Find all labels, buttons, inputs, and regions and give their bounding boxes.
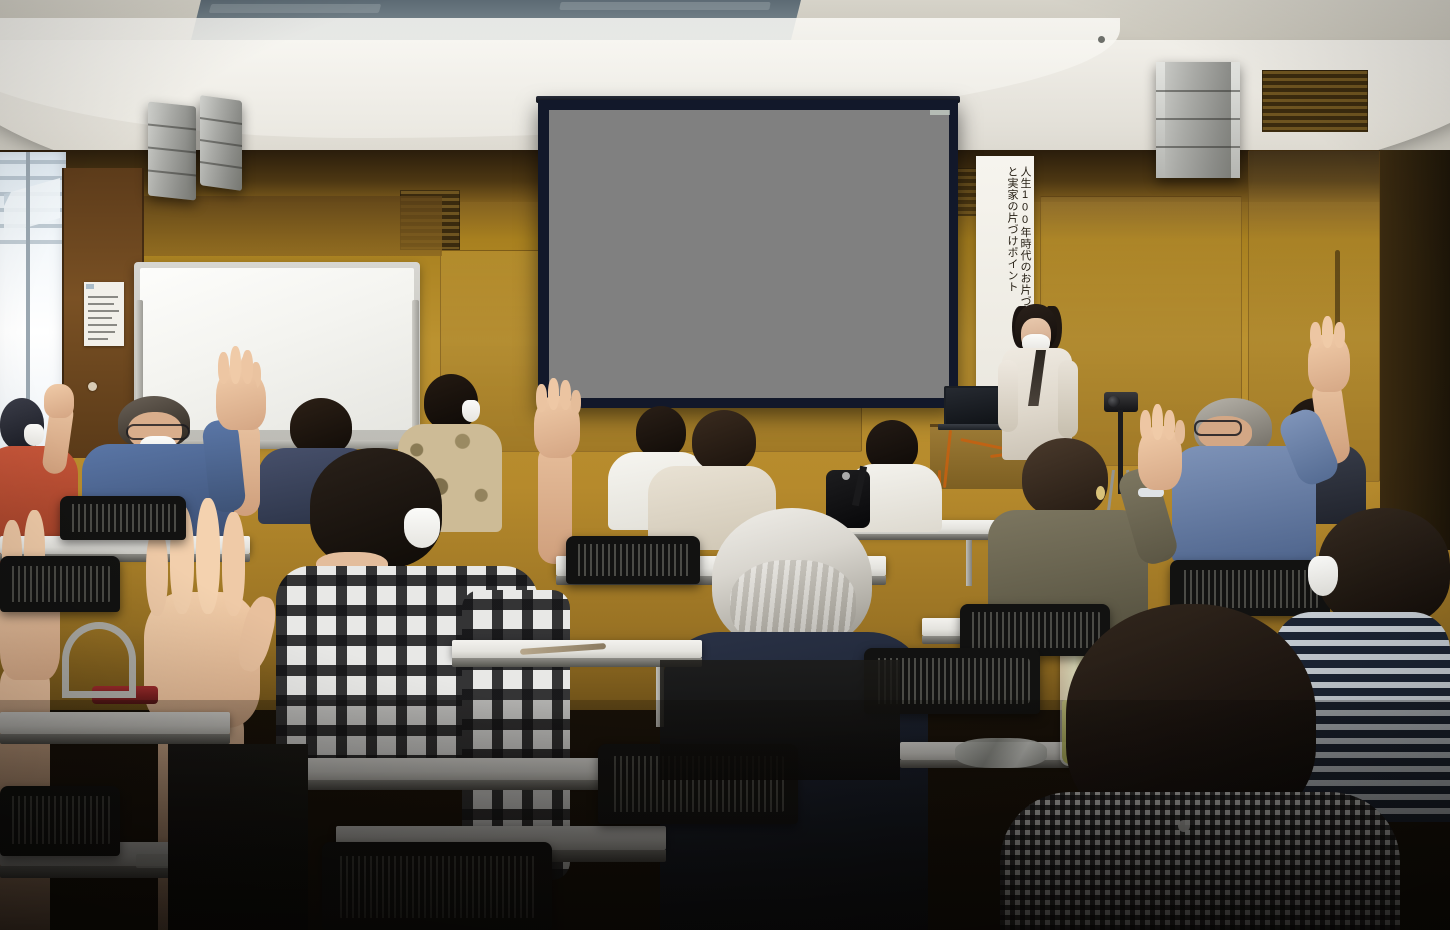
- notice-text-line: [88, 331, 115, 333]
- wall-louver-vent-right: [1262, 70, 1368, 132]
- chair-back-center[interactable]: [566, 536, 700, 584]
- chair-handle-ring: [62, 622, 136, 698]
- notice-tape: [86, 284, 94, 289]
- desk-row2-left-edge: [288, 780, 618, 790]
- person-orange-mask: [24, 424, 44, 446]
- notice-text-line: [88, 303, 114, 305]
- finger: [1175, 420, 1185, 444]
- projection-screen-surface: [549, 110, 949, 398]
- floor-shadow-left: [168, 744, 308, 930]
- bag-charm: [842, 472, 850, 480]
- eyeglasses-right: [1194, 420, 1242, 436]
- chair-left-2[interactable]: [0, 556, 120, 612]
- notice-text-line: [88, 338, 108, 340]
- finger: [1152, 404, 1163, 440]
- person-gingham-torso: [1000, 792, 1400, 930]
- ceiling-speaker-left-inner: [200, 95, 242, 191]
- ceiling-slot-left: [209, 4, 382, 13]
- lecture-hall-photo: 人生100年時代のお片づけ 失敗しない！ 自宅と実家の片づけポイント 浅部 敬子: [0, 0, 1450, 930]
- person-beige-head: [692, 410, 756, 472]
- ceiling-speaker-right: [1156, 62, 1240, 178]
- foil-wrapper: [955, 738, 1047, 768]
- person-plaid-mask: [404, 508, 440, 548]
- chair-back-left[interactable]: [60, 496, 186, 540]
- wall-right-dark-edge: [1380, 150, 1450, 550]
- finger: [571, 390, 581, 414]
- desk-label: [136, 854, 170, 868]
- finger: [548, 378, 559, 410]
- finger: [218, 352, 229, 384]
- desk-row2-left: [288, 758, 618, 780]
- ceiling-speaker-left: [148, 101, 196, 200]
- finger: [560, 380, 571, 410]
- earring: [1096, 486, 1105, 500]
- person-olive-head: [1022, 438, 1108, 518]
- chair-foreground-left[interactable]: [322, 842, 552, 930]
- finger-index: [222, 512, 245, 616]
- finger-pinky: [146, 528, 168, 616]
- notice-text-line: [88, 324, 117, 326]
- notice-text-line: [88, 296, 118, 298]
- ceiling-fixture-dot: [1098, 36, 1105, 43]
- ceiling-slot-right: [559, 2, 770, 10]
- window-blind-slat: [0, 240, 66, 244]
- finger: [1164, 410, 1175, 440]
- finger: [1310, 322, 1321, 348]
- desk-row2-farleft-edge: [0, 734, 230, 744]
- raised-hand-orange: [44, 384, 74, 418]
- screen-glint: [930, 110, 950, 115]
- notice-text-line: [88, 317, 112, 319]
- finger: [536, 384, 547, 412]
- finger: [1334, 322, 1345, 348]
- person-stripe-mask: [1308, 556, 1338, 596]
- person-white-tank-head: [636, 406, 686, 458]
- desk-leg: [966, 540, 972, 586]
- door-knob[interactable]: [88, 382, 97, 391]
- floor-shadow-center: [660, 660, 900, 780]
- finger-middle: [196, 498, 220, 614]
- chair-far-left-front[interactable]: [0, 786, 120, 856]
- camera-lens: [1108, 396, 1120, 407]
- finger: [242, 350, 253, 384]
- notice-text-line: [88, 310, 119, 312]
- window-blind-slat: [0, 160, 66, 164]
- person-floral-mask: [462, 400, 480, 422]
- presenter-arm-right: [1058, 360, 1078, 438]
- wall-notice-paper: [84, 282, 124, 346]
- presenter-arm-left: [998, 360, 1018, 432]
- finger: [230, 346, 241, 384]
- finger: [1322, 316, 1333, 348]
- collar-button: [1178, 820, 1190, 832]
- desk-row2-farleft: [0, 712, 230, 734]
- finger: [1140, 410, 1151, 440]
- wall-panel-above-whiteboard: [142, 196, 442, 256]
